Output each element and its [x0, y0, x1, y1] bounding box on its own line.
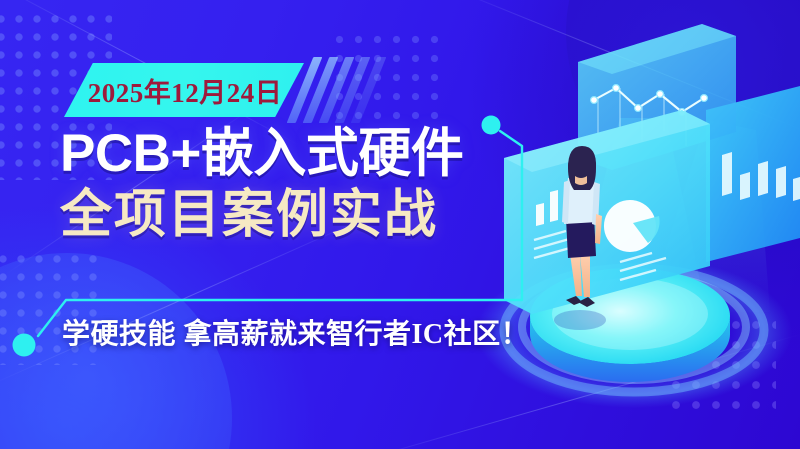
headline-line-2: 全项目案例实战: [60, 186, 530, 244]
headline-line-1: PCB+嵌入式硬件: [60, 126, 530, 182]
headline-block: PCB+嵌入式硬件 全项目案例实战: [60, 126, 530, 244]
date-badge-text: 2025年12月24日: [88, 71, 283, 110]
subtitle-text: 学硬技能 拿高薪就来智行者IC社区！: [62, 312, 529, 352]
promo-poster: 2025年12月24日 PCB+嵌入式硬件 全项目案例实战 学硬技能 拿高薪就来…: [0, 0, 800, 449]
date-badge: 2025年12月24日: [64, 63, 304, 117]
diagonal-stripes-decoration: [296, 63, 386, 117]
bracket-node-bottom: [13, 334, 36, 357]
